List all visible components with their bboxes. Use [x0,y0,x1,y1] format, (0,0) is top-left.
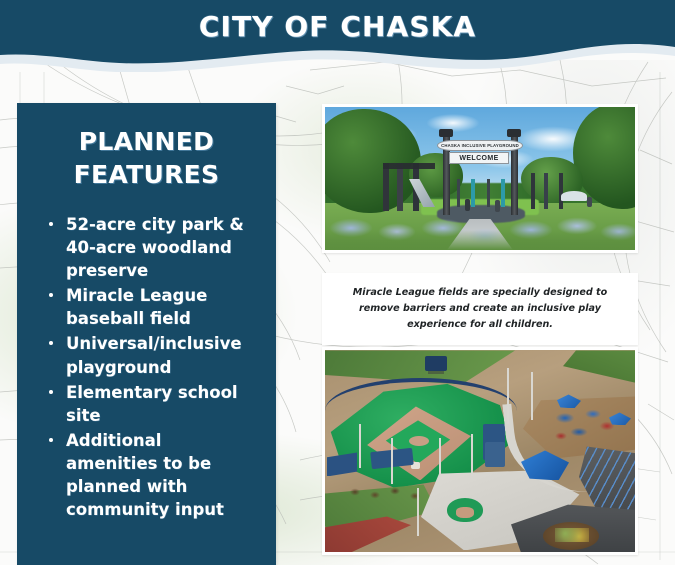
list-item: 52-acre city park & 40-acre woodland pre… [47,213,258,282]
aerial-photo-frame [322,347,638,555]
media-column: CHASKA INCLUSIVE PLAYGROUND WELCOME Mira… [322,104,638,555]
list-item: Additional amenities to be planned with … [47,429,258,521]
light-pole [391,438,393,484]
slide-canvas: PARCEL 10 CITY OF CHASKA PLANNED FEATURE… [0,0,675,565]
arch-cap-left [439,129,453,137]
playground-render-image: CHASKA INCLUSIVE PLAYGROUND WELCOME [325,107,635,250]
playground-equipment [553,408,615,442]
photo-caption-text: Miracle League fields are specially desi… [338,285,622,332]
mini-play-field [447,498,483,522]
planned-features-list: 52-acre city park & 40-acre woodland pre… [35,213,258,521]
light-pole [417,488,419,536]
header-banner: CITY OF CHASKA [0,0,675,72]
entrance-sign-name: CHASKA INCLUSIVE PLAYGROUND [437,140,523,151]
flower-beds [325,202,635,250]
light-pole [359,424,361,468]
list-item: Universal/inclusive playground [47,332,258,378]
scoreboard [425,356,447,371]
page-title: CITY OF CHASKA [0,10,675,43]
planned-features-panel: PLANNED FEATURES 52-acre city park & 40-… [17,103,276,565]
entrance-sign-welcome: WELCOME [449,152,509,164]
dugout-third-base [485,442,505,467]
shade-canopy-right [561,191,587,201]
list-item: Miracle League baseball field [47,284,258,330]
arch-cap-right [507,129,521,137]
light-pole [531,372,533,420]
aerial-photo-image [325,350,635,552]
playground-render-frame: CHASKA INCLUSIVE PLAYGROUND WELCOME [322,104,638,253]
light-pole [439,438,441,482]
light-pole [471,434,473,476]
planned-features-title: PLANNED FEATURES [35,125,258,191]
photo-caption-card: Miracle League fields are specially desi… [322,273,638,345]
list-item: Elementary school site [47,381,258,427]
light-pole [507,368,509,424]
